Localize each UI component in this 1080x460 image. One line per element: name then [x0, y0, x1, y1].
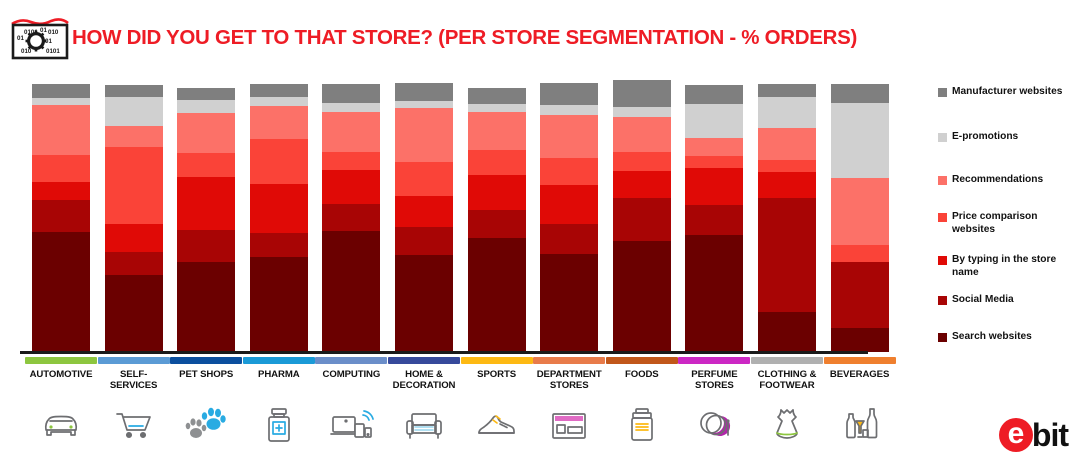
legend-swatch-icon — [938, 256, 947, 265]
bar-stack — [758, 84, 816, 352]
food-jar-icon — [606, 401, 678, 447]
bar-segment — [758, 160, 816, 172]
category-color-rule — [243, 357, 315, 364]
bar-segment — [322, 112, 380, 152]
bar-segment — [468, 238, 526, 352]
bar-segment — [540, 105, 598, 115]
car-icon — [25, 401, 97, 447]
bar-segment — [540, 115, 598, 158]
category-label: COMPUTING — [315, 369, 387, 380]
category-color-rule — [25, 357, 97, 364]
bar-segment — [758, 198, 816, 312]
bar-segment — [831, 178, 889, 245]
bar-segment — [613, 117, 671, 152]
category-item[interactable]: SELF-SERVICES — [98, 357, 170, 452]
bar-segment — [105, 275, 163, 352]
bar-segment — [613, 152, 671, 171]
bar-segment — [395, 255, 453, 352]
category-label: CLOTHING & FOOTWEAR — [751, 369, 823, 391]
category-color-rule — [533, 357, 605, 364]
category-item[interactable]: FOODS — [606, 357, 678, 452]
bar-segment — [613, 198, 671, 241]
bar-segment — [177, 113, 235, 153]
bar-segment — [758, 128, 816, 160]
category-item[interactable]: DEPARTMENT STORES — [533, 357, 605, 452]
legend-swatch-icon — [938, 333, 947, 342]
shopping-cart-icon — [98, 401, 170, 447]
bar-segment — [105, 252, 163, 275]
bar-segment — [831, 262, 889, 328]
bar-segment — [32, 84, 90, 98]
bar-stack — [831, 84, 889, 352]
bar-segment — [32, 155, 90, 182]
category-item[interactable]: SPORTS — [461, 357, 533, 452]
bar-segment — [468, 104, 526, 112]
bar-segment — [831, 84, 889, 103]
category-item[interactable]: BEVERAGES — [824, 357, 896, 452]
category-color-rule — [461, 357, 533, 364]
bar-segment — [32, 105, 90, 155]
bar-segment — [322, 103, 380, 112]
bar-segment — [685, 138, 743, 156]
bar-segment — [685, 235, 743, 352]
legend-item[interactable]: Manufacturer websites — [938, 86, 1076, 99]
category-color-rule — [315, 357, 387, 364]
category-label: DEPARTMENT STORES — [533, 369, 605, 391]
paw-prints-icon — [170, 401, 242, 447]
bar-segment — [177, 177, 235, 230]
bottles-icon — [824, 401, 896, 447]
bar-segment — [613, 241, 671, 352]
category-label: BEVERAGES — [824, 369, 896, 380]
ebit-wordmark: bit — [1032, 418, 1068, 452]
legend-label: Search websites — [952, 331, 1076, 344]
bar-segment — [613, 107, 671, 117]
category-color-rule — [606, 357, 678, 364]
category-color-rule — [170, 357, 242, 364]
category-item[interactable]: PHARMA — [243, 357, 315, 452]
sneaker-icon — [461, 401, 533, 447]
legend-swatch-icon — [938, 88, 947, 97]
bar-segment — [685, 156, 743, 168]
bar-segment — [32, 98, 90, 105]
bar-stack — [177, 88, 235, 352]
medicine-bottle-icon — [243, 401, 315, 447]
bar-segment — [468, 88, 526, 104]
legend-item[interactable]: Price comparison websites — [938, 211, 1076, 236]
category-item[interactable]: CLOTHING & FOOTWEAR — [751, 357, 823, 452]
bar-segment — [613, 171, 671, 198]
bar-segment — [395, 108, 453, 162]
bar-segment — [177, 262, 235, 352]
bar-segment — [105, 224, 163, 252]
x-axis-line — [20, 351, 868, 354]
bar-segment — [322, 204, 380, 231]
legend-item[interactable]: Social Media — [938, 294, 1076, 307]
bar-segment — [758, 172, 816, 198]
legend-label: Price comparison websites — [952, 211, 1076, 236]
bar-segment — [685, 85, 743, 104]
bar-segment — [32, 182, 90, 200]
bar-segment — [395, 101, 453, 108]
bar-segment — [250, 184, 308, 233]
category-color-rule — [98, 357, 170, 364]
bar-segment — [758, 84, 816, 97]
bar-segment — [468, 175, 526, 210]
dress-icon — [751, 401, 823, 447]
bar-segment — [395, 162, 453, 196]
category-item[interactable]: PET SHOPS — [170, 357, 242, 452]
bar-segment — [831, 328, 889, 352]
legend-item[interactable]: E-promotions — [938, 131, 1076, 144]
legend-swatch-icon — [938, 133, 947, 142]
bar-segment — [395, 227, 453, 255]
category-item[interactable]: PERFUME STORES — [678, 357, 750, 452]
bar-stack — [468, 88, 526, 352]
bar-stack — [395, 83, 453, 352]
devices-icon — [315, 401, 387, 447]
bar-segment — [613, 80, 671, 107]
ebit-logo: e bit — [999, 418, 1068, 452]
category-label: FOODS — [606, 369, 678, 380]
category-item[interactable]: HOME & DECORATION — [388, 357, 460, 452]
legend-swatch-icon — [938, 213, 947, 222]
bar-segment — [250, 106, 308, 139]
bar-segment — [105, 97, 163, 126]
bar-segment — [540, 83, 598, 105]
category-label: PHARMA — [243, 369, 315, 380]
bar-segment — [831, 103, 889, 178]
bar-segment — [685, 168, 743, 205]
bar-segment — [105, 126, 163, 147]
bar-segment — [468, 150, 526, 175]
legend-label: Social Media — [952, 294, 1076, 307]
category-color-rule — [678, 357, 750, 364]
bar-segment — [322, 84, 380, 103]
bar-segment — [540, 185, 598, 224]
category-item[interactable]: COMPUTING — [315, 357, 387, 452]
bar-stack — [322, 84, 380, 352]
legend-swatch-icon — [938, 296, 947, 305]
bar-segment — [250, 233, 308, 257]
bar-segment — [831, 245, 889, 262]
bar-stack — [540, 83, 598, 352]
legend-item[interactable]: Search websites — [938, 331, 1076, 344]
bar-stack — [613, 80, 671, 352]
category-item[interactable]: AUTOMOTIVE — [25, 357, 97, 452]
bar-segment — [32, 200, 90, 232]
legend-swatch-icon — [938, 176, 947, 185]
armchair-icon — [388, 401, 460, 447]
bar-segment — [322, 152, 380, 170]
legend-item[interactable]: By typing in the store name — [938, 254, 1076, 279]
legend-label: By typing in the store name — [952, 254, 1076, 279]
bar-segment — [540, 224, 598, 254]
bar-segment — [105, 85, 163, 97]
bar-segment — [250, 139, 308, 184]
legend-item[interactable]: Recommendations — [938, 174, 1076, 187]
bar-segment — [250, 257, 308, 352]
category-color-rule — [824, 357, 896, 364]
bar-segment — [758, 97, 816, 128]
bar-stack — [685, 85, 743, 352]
bar-segment — [395, 83, 453, 101]
bar-segment — [177, 100, 235, 113]
category-label: PET SHOPS — [170, 369, 242, 380]
bar-segment — [322, 170, 380, 204]
storefront-icon — [533, 401, 605, 447]
bar-segment — [468, 210, 526, 238]
bar-stack — [105, 85, 163, 352]
bar-segment — [177, 88, 235, 100]
perfume-icon — [678, 401, 750, 447]
category-color-rule — [751, 357, 823, 364]
bar-segment — [322, 231, 380, 352]
ebit-mark: e — [999, 418, 1033, 452]
bar-segment — [395, 196, 453, 227]
bar-segment — [685, 104, 743, 138]
bar-segment — [468, 112, 526, 150]
bar-segment — [177, 230, 235, 262]
category-label: PERFUME STORES — [678, 369, 750, 391]
bar-segment — [177, 153, 235, 177]
bar-segment — [105, 147, 163, 224]
category-label: SELF-SERVICES — [98, 369, 170, 391]
category-label: AUTOMOTIVE — [25, 369, 97, 380]
legend-label: E-promotions — [952, 131, 1076, 144]
bar-segment — [250, 84, 308, 97]
bar-stack — [32, 84, 90, 352]
bar-segment — [250, 97, 308, 106]
legend-label: Recommendations — [952, 174, 1076, 187]
bar-stack — [250, 84, 308, 352]
bar-segment — [685, 205, 743, 235]
category-label: HOME & DECORATION — [388, 369, 460, 391]
bar-segment — [32, 232, 90, 352]
category-label: SPORTS — [461, 369, 533, 380]
bar-segment — [540, 254, 598, 352]
legend-label: Manufacturer websites — [952, 86, 1076, 99]
category-color-rule — [388, 357, 460, 364]
bar-segment — [758, 312, 816, 352]
bar-segment — [540, 158, 598, 185]
